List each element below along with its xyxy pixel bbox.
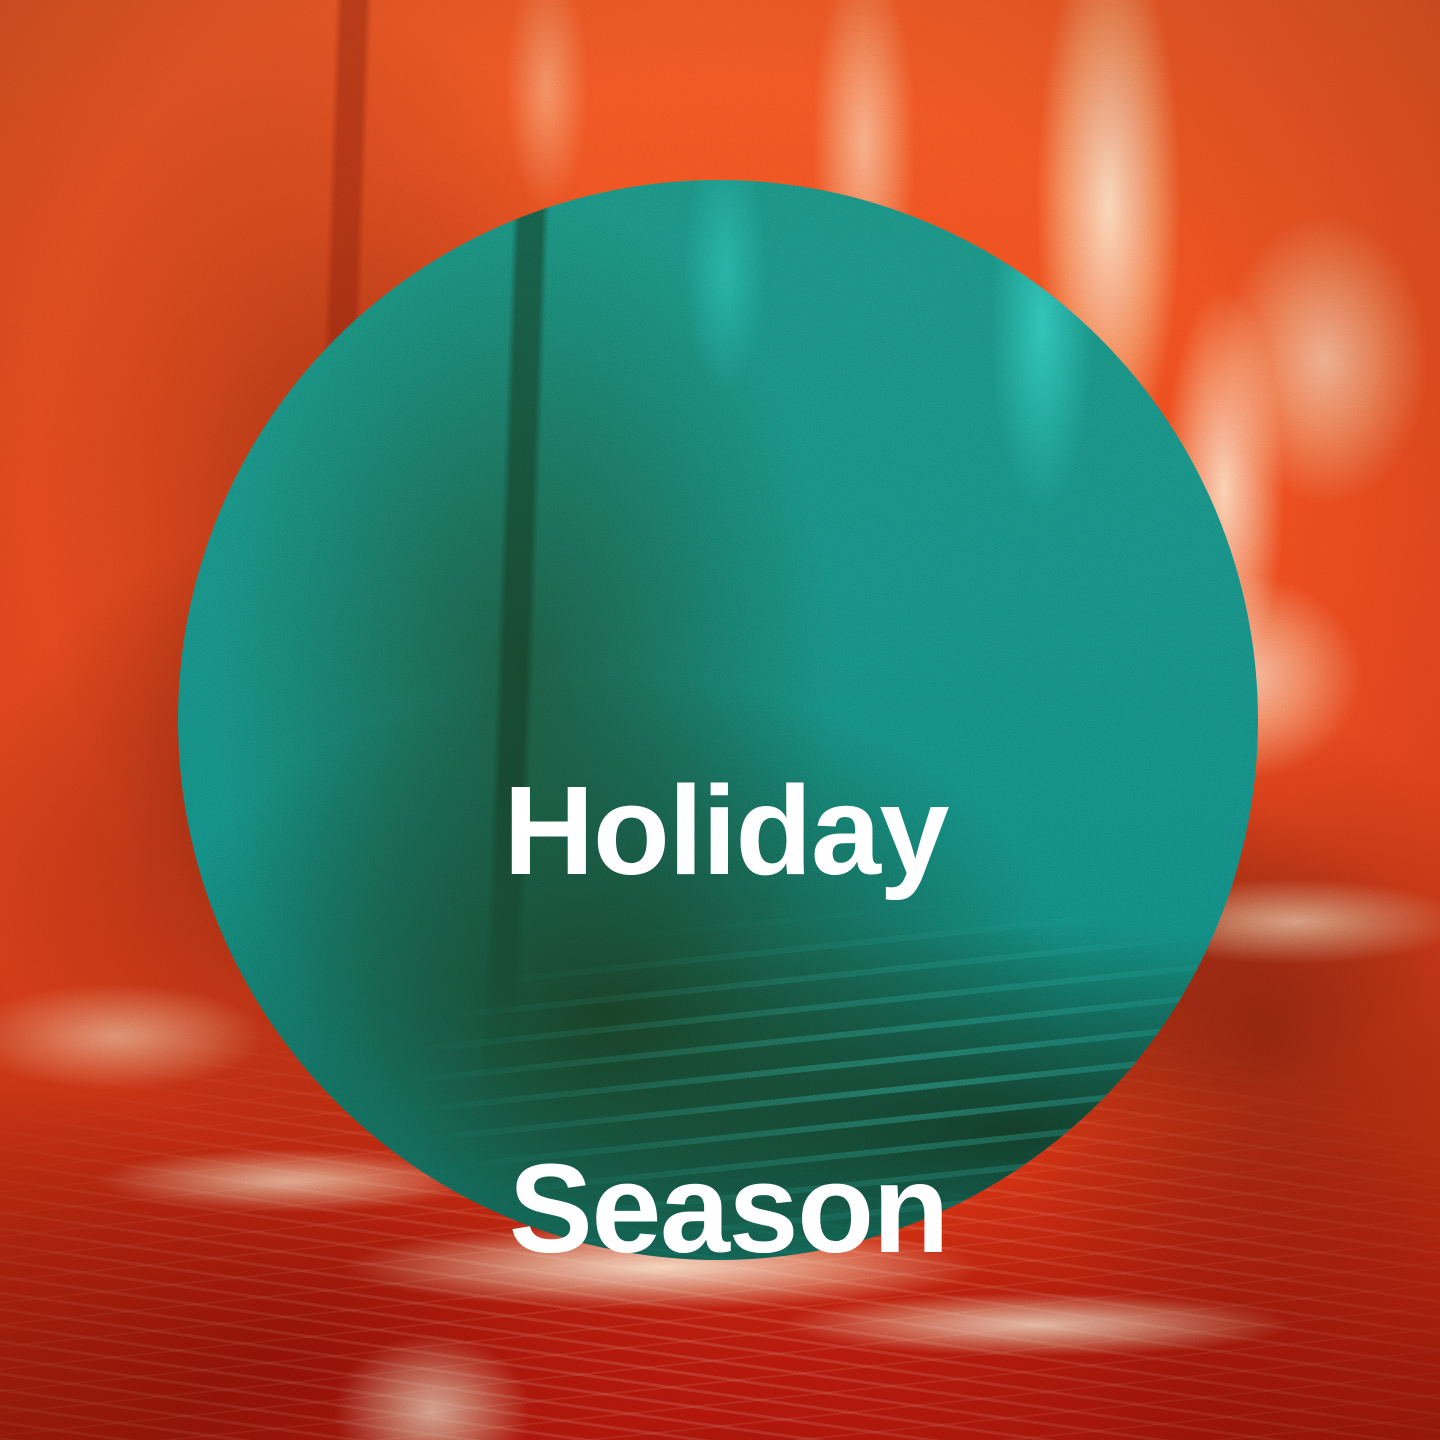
album-cover: Holiday Season Chillout <box>0 0 1440 1440</box>
album-title-line-2: Season <box>0 1146 948 1272</box>
album-title-line-1: Holiday <box>0 768 948 894</box>
album-title: Holiday Season Chillout <box>0 516 948 1440</box>
